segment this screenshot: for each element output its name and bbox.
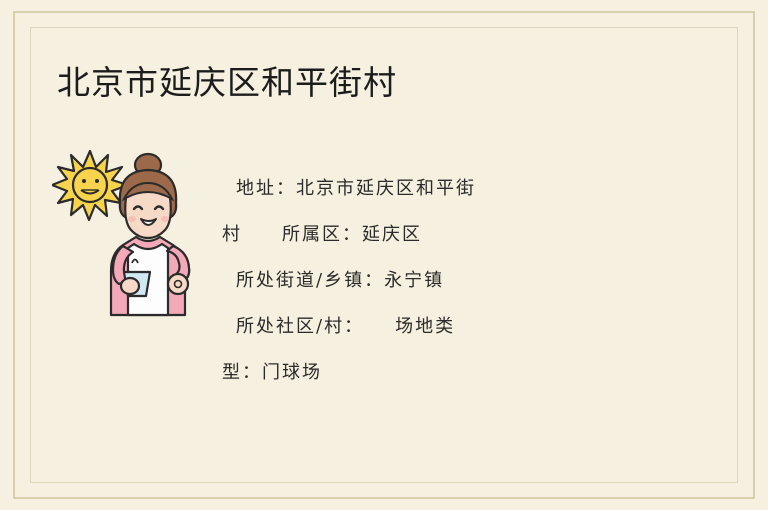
info-line-address: 地址：北京市延庆区和平街 [222, 166, 642, 212]
sun-icon [52, 151, 128, 220]
girl-figure [111, 154, 189, 315]
info-line-venue-type: 型：门球场 [222, 350, 642, 396]
venue-info-block: 地址：北京市延庆区和平街 村 所属区：延庆区 所处街道/乡镇：永宁镇 所处社区/… [222, 166, 642, 396]
info-line-community: 所处社区/村： 场地类 [222, 304, 642, 350]
page-title: 北京市延庆区和平街村 [57, 62, 397, 104]
document-page: 北京市延庆区和平街村 [0, 0, 768, 510]
info-line-district: 村 所属区：延庆区 [222, 212, 642, 258]
info-line-street: 所处街道/乡镇：永宁镇 [222, 258, 642, 304]
girl-with-sun-illustration [52, 145, 217, 320]
